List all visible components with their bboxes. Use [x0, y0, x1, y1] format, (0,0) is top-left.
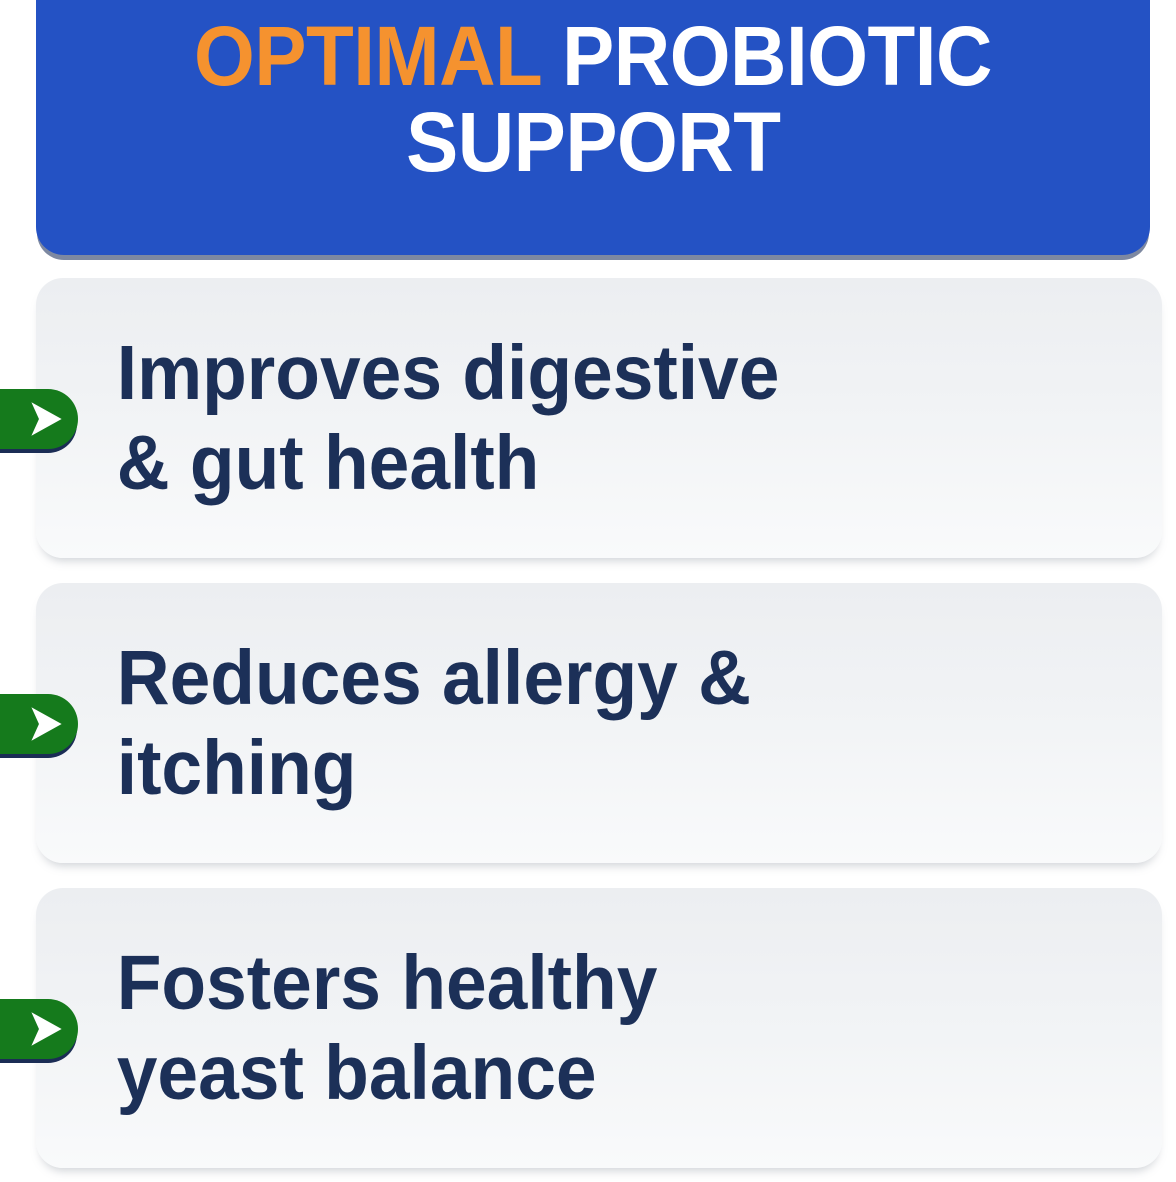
header-title-line-2: SUPPORT — [406, 100, 780, 186]
benefit-bullet-badge — [0, 389, 78, 449]
header-main-word: PROBIOTIC — [562, 9, 992, 103]
benefit-card: Fosters healthy yeast balance — [36, 888, 1162, 1168]
benefit-card: Reduces allergy & itching — [36, 583, 1162, 863]
chevron-right-arrow-icon — [23, 1008, 65, 1050]
chevron-right-arrow-icon — [23, 398, 65, 440]
probiotic-benefits-infographic: OPTIMAL PROBIOTIC SUPPORT Improves diges… — [0, 0, 1176, 1182]
benefit-card: Improves digestive & gut health — [36, 278, 1162, 558]
header-banner: OPTIMAL PROBIOTIC SUPPORT — [36, 0, 1150, 255]
benefits-list: Improves digestive & gut health Reduces … — [0, 278, 1176, 1182]
header-title-line-1: OPTIMAL PROBIOTIC — [194, 14, 992, 100]
benefit-card-text: Reduces allergy & itching — [36, 633, 808, 813]
header-accent-word: OPTIMAL — [194, 9, 541, 103]
benefit-card-text: Improves digestive & gut health — [36, 328, 836, 508]
benefit-card-text: Fosters healthy yeast balance — [36, 938, 714, 1118]
benefit-bullet-badge — [0, 694, 78, 754]
chevron-right-arrow-icon — [23, 703, 65, 745]
benefit-bullet-badge — [0, 999, 78, 1059]
